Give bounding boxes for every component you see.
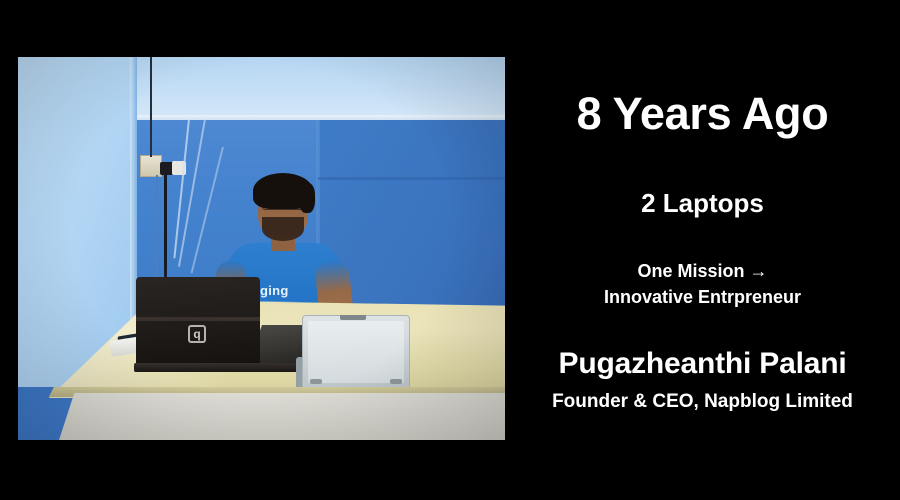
- silver-laptop-latch: [340, 315, 366, 320]
- power-socket-icon: [140, 155, 162, 177]
- cable-black-top: [150, 57, 152, 157]
- silver-laptop-panel: [308, 321, 404, 383]
- black-laptop-band: [136, 317, 260, 321]
- mission-line-1: One Mission →: [505, 258, 900, 284]
- headline-title: 8 Years Ago: [505, 90, 900, 137]
- person-hair-side: [299, 183, 315, 213]
- presentation-slide: hanging q 8 Years Ago 2: [0, 0, 900, 500]
- cable-thin: [156, 175, 158, 293]
- silver-laptop-foot-left: [310, 379, 322, 384]
- photo-image: hanging q: [18, 57, 505, 440]
- person-role: Founder & CEO, Napblog Limited: [505, 391, 900, 413]
- mission-statement: One Mission → Innovative Entrpreneur: [505, 258, 900, 310]
- person-beard: [262, 217, 304, 241]
- subheadline: 2 Laptops: [505, 188, 900, 219]
- desk-front-panel: [18, 393, 505, 440]
- black-laptop-lid: [136, 277, 260, 369]
- mission-line-2: Innovative Entrpreneur: [505, 284, 900, 310]
- person-name: Pugazheanthi Palani: [505, 347, 900, 381]
- compaq-logo-icon: q: [188, 325, 206, 343]
- text-panel: 8 Years Ago 2 Laptops One Mission → Inno…: [505, 0, 900, 500]
- black-laptop-base: [134, 363, 314, 372]
- silver-laptop-foot-right: [390, 379, 402, 384]
